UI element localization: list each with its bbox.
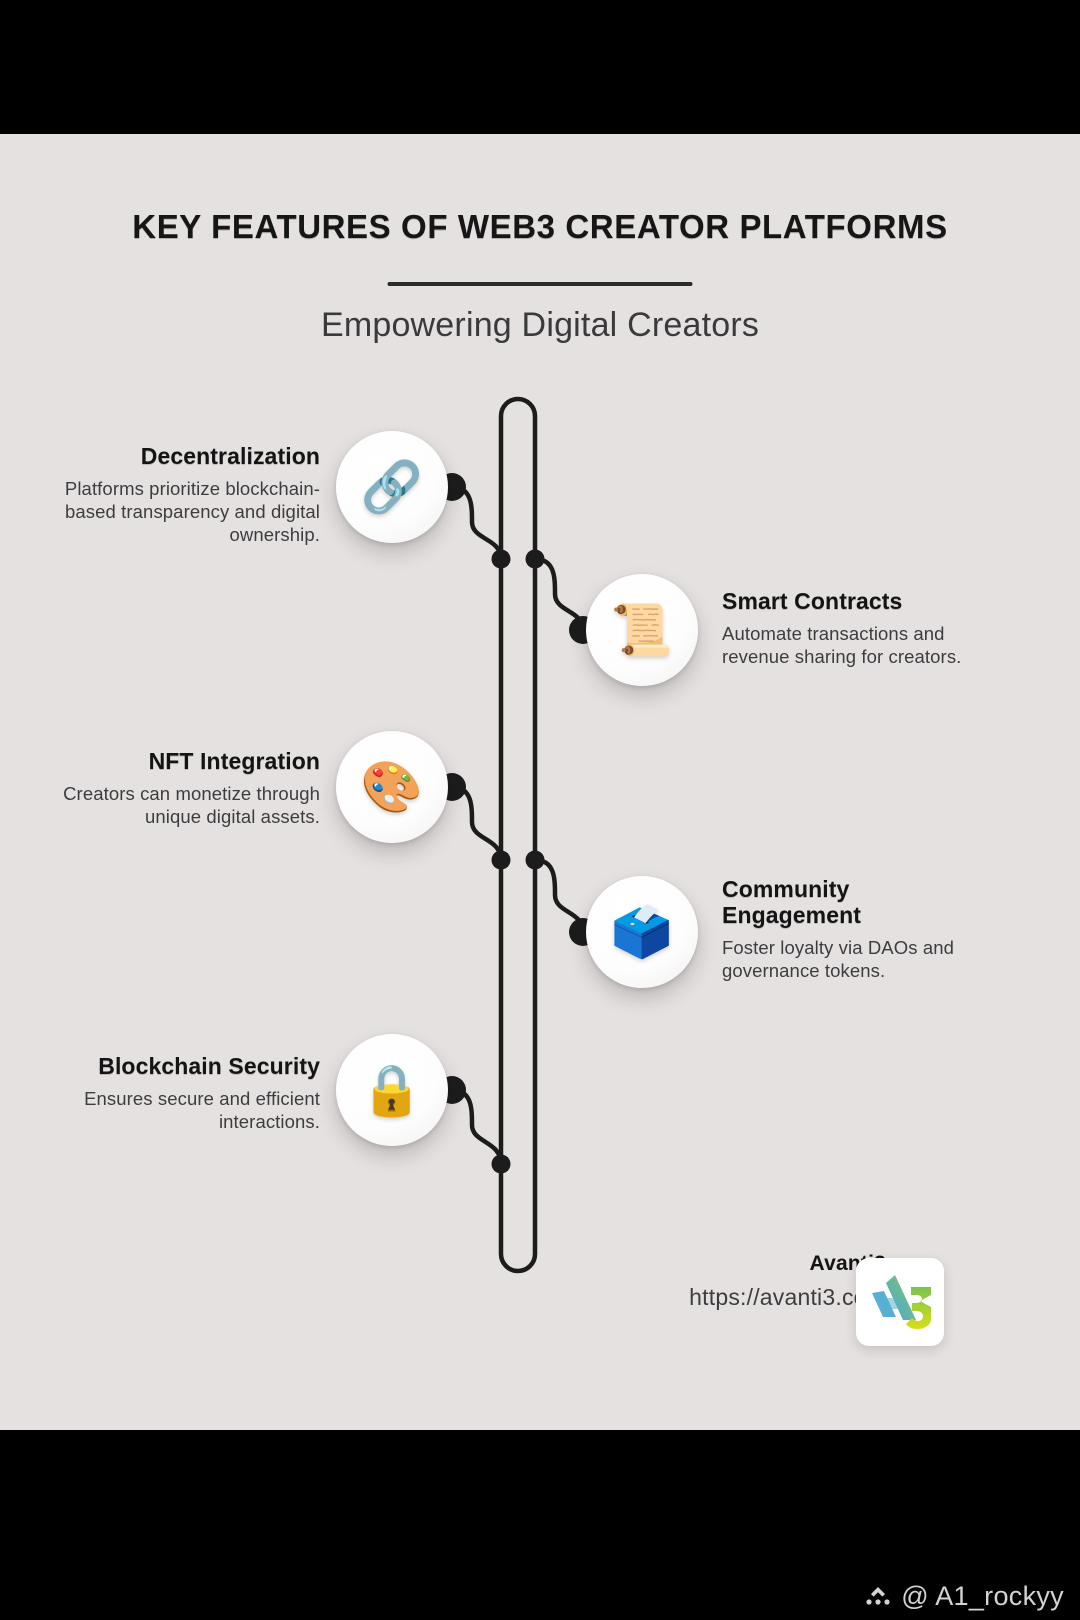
icon-bubble-nft-integration: 🎨: [336, 731, 448, 843]
avanti3-logo-icon: [865, 1271, 935, 1333]
watermark: @ A1_rockyy: [864, 1581, 1064, 1612]
icon-bubble-blockchain-security: 🔒: [336, 1034, 448, 1146]
feature-body: Ensures secure and efficient interaction…: [40, 1087, 320, 1133]
artist-palette-icon: 🎨: [361, 762, 423, 812]
page-title: KEY FEATURES OF WEB3 CREATOR PLATFORMS: [0, 208, 1080, 246]
feature-body: Creators can monetize through unique dig…: [60, 782, 320, 828]
feature-body: Platforms prioritize blockchain-based tr…: [60, 477, 320, 546]
title-divider: [388, 282, 693, 286]
feature-community-engagement: Community Engagement Foster loyalty via …: [722, 877, 984, 982]
padlock-icon: 🔒: [361, 1065, 423, 1115]
feature-title: Smart Contracts: [722, 589, 990, 615]
feature-body: Automate transactions and revenue sharin…: [722, 622, 990, 668]
feature-title: Blockchain Security: [40, 1054, 320, 1080]
page-subtitle: Empowering Digital Creators: [0, 306, 1080, 345]
feature-decentralization: Decentralization Platforms prioritize bl…: [60, 444, 320, 546]
feature-title: NFT Integration: [60, 749, 320, 775]
icon-bubble-community-engagement: 🗳️: [586, 876, 698, 988]
chain-link-icon: 🔗: [361, 462, 423, 512]
feature-title: Decentralization: [60, 444, 320, 470]
infographic-poster: KEY FEATURES OF WEB3 CREATOR PLATFORMS E…: [0, 134, 1080, 1430]
screenshot-root: KEY FEATURES OF WEB3 CREATOR PLATFORMS E…: [0, 0, 1080, 1620]
ballot-box-icon: 🗳️: [611, 907, 673, 957]
icon-bubble-decentralization: 🔗: [336, 431, 448, 543]
icon-bubble-smart-contracts: 📜: [586, 574, 698, 686]
avanti3-logo-tile: [856, 1258, 944, 1346]
feature-blockchain-security: Blockchain Security Ensures secure and e…: [40, 1054, 320, 1133]
feature-body: Foster loyalty via DAOs and governance t…: [722, 936, 984, 982]
feature-nft-integration: NFT Integration Creators can monetize th…: [60, 749, 320, 828]
feature-title: Community Engagement: [722, 877, 984, 929]
watermark-handle: @ A1_rockyy: [901, 1581, 1064, 1612]
feature-smart-contracts: Smart Contracts Automate transactions an…: [722, 589, 990, 668]
diamond-cluster-icon: [864, 1583, 892, 1611]
scroll-icon: 📜: [611, 605, 673, 655]
